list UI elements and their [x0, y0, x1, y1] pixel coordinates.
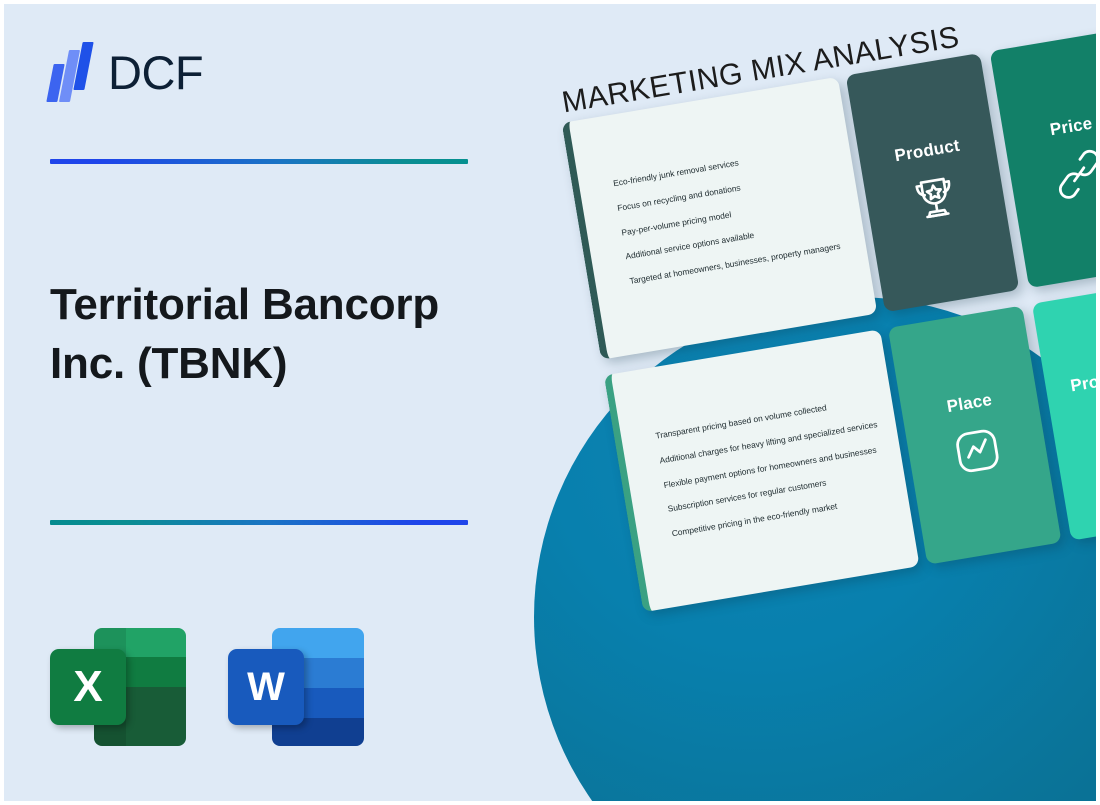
place-bullet-list: Transparent pricing based on volume coll… [655, 392, 909, 538]
divider-bottom [50, 520, 468, 525]
page-title: Territorial Bancorp Inc. (TBNK) [50, 276, 480, 393]
tile-place-label: Place [945, 390, 993, 417]
trophy-icon [905, 168, 965, 228]
link-icon [1049, 144, 1096, 204]
product-bullet-list: Eco-friendly junk removal services Focus… [613, 140, 867, 286]
tile-product-label: Product [893, 136, 961, 167]
download-icons: X W [50, 622, 368, 752]
excel-badge-letter: X [50, 649, 126, 725]
slide-canvas: DCF Territorial Bancorp Inc. (TBNK) X [4, 4, 1096, 801]
brand-logo-text: DCF [108, 40, 203, 106]
list-item: Transparent pricing based on volume coll… [655, 392, 892, 440]
word-file-icon[interactable]: W [228, 622, 368, 752]
brand-logo[interactable]: DCF [48, 40, 378, 106]
cloud-bolt-icon [1091, 397, 1096, 457]
word-badge-letter: W [228, 649, 304, 725]
bars-logo-icon [48, 42, 100, 102]
product-bullets-panel: Eco-friendly junk removal services Focus… [562, 77, 878, 360]
tile-place[interactable]: Place [888, 306, 1062, 565]
page-root: DCF Territorial Bancorp Inc. (TBNK) X [0, 0, 1100, 805]
marketing-mix-slide: MARKETING MIX ANALYSIS Eco-friendly junk… [554, 4, 1096, 615]
tile-promotion-label: Promotion [1069, 362, 1096, 396]
tile-price-label: Price [1049, 114, 1094, 141]
excel-file-icon[interactable]: X [50, 622, 190, 752]
tile-product[interactable]: Product [846, 53, 1020, 312]
marketing-mix-artwork: MARKETING MIX ANALYSIS Eco-friendly junk… [526, 4, 1096, 801]
list-item: Eco-friendly junk removal services [613, 140, 850, 188]
divider-top [50, 159, 468, 164]
chart-square-icon [947, 421, 1007, 481]
place-bullets-panel: Transparent pricing based on volume coll… [604, 329, 920, 612]
